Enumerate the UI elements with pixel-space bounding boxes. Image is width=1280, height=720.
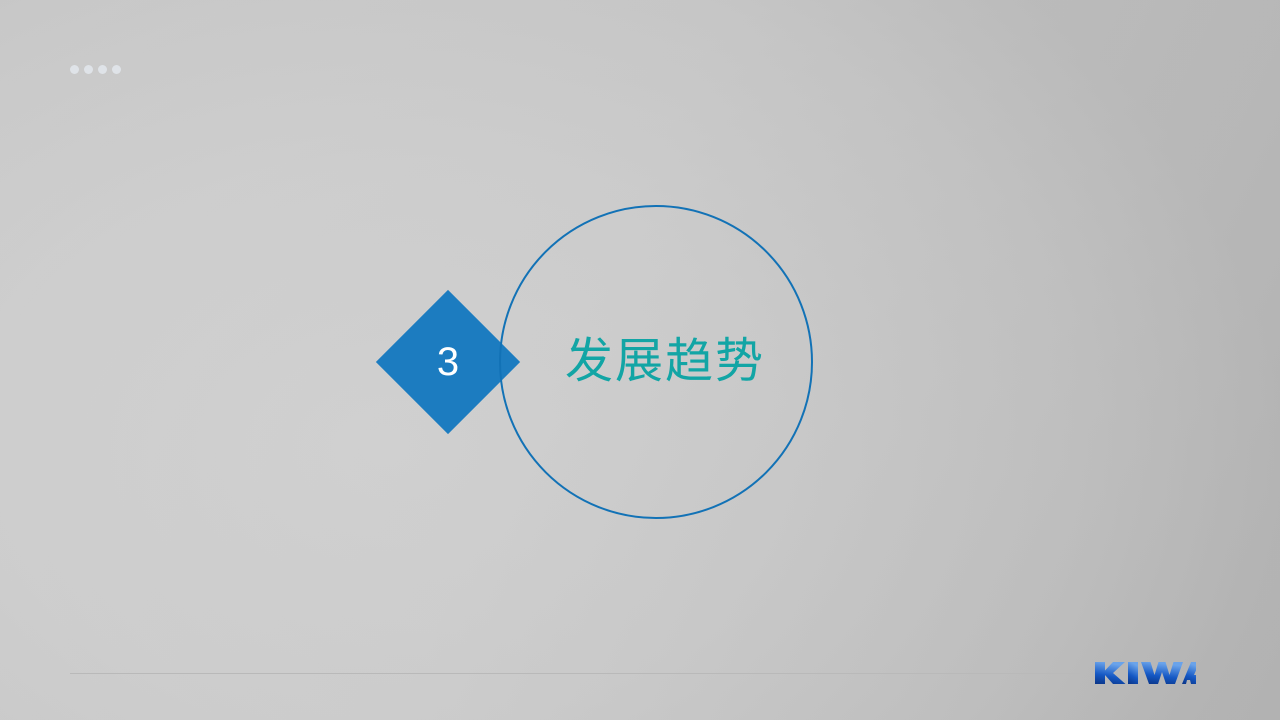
section-title: 发展趋势 — [499, 205, 813, 519]
kiway-logo-icon — [1094, 661, 1196, 685]
section-number-label: 3 — [398, 312, 498, 412]
decor-dot-3 — [98, 65, 107, 74]
decor-dot-2 — [84, 65, 93, 74]
brand-logo — [1094, 658, 1196, 688]
decor-dot-4 — [112, 65, 121, 74]
section-circle-outline — [499, 205, 813, 519]
footer-divider — [70, 673, 1080, 674]
section-marker-group: 3 发展趋势 — [0, 0, 1280, 720]
section-number-diamond — [376, 290, 520, 434]
section-title-text: 发展趋势 — [547, 338, 765, 386]
decor-dots — [70, 65, 121, 74]
slide-canvas: 3 发展趋势 — [0, 0, 1280, 720]
decor-dot-1 — [70, 65, 79, 74]
